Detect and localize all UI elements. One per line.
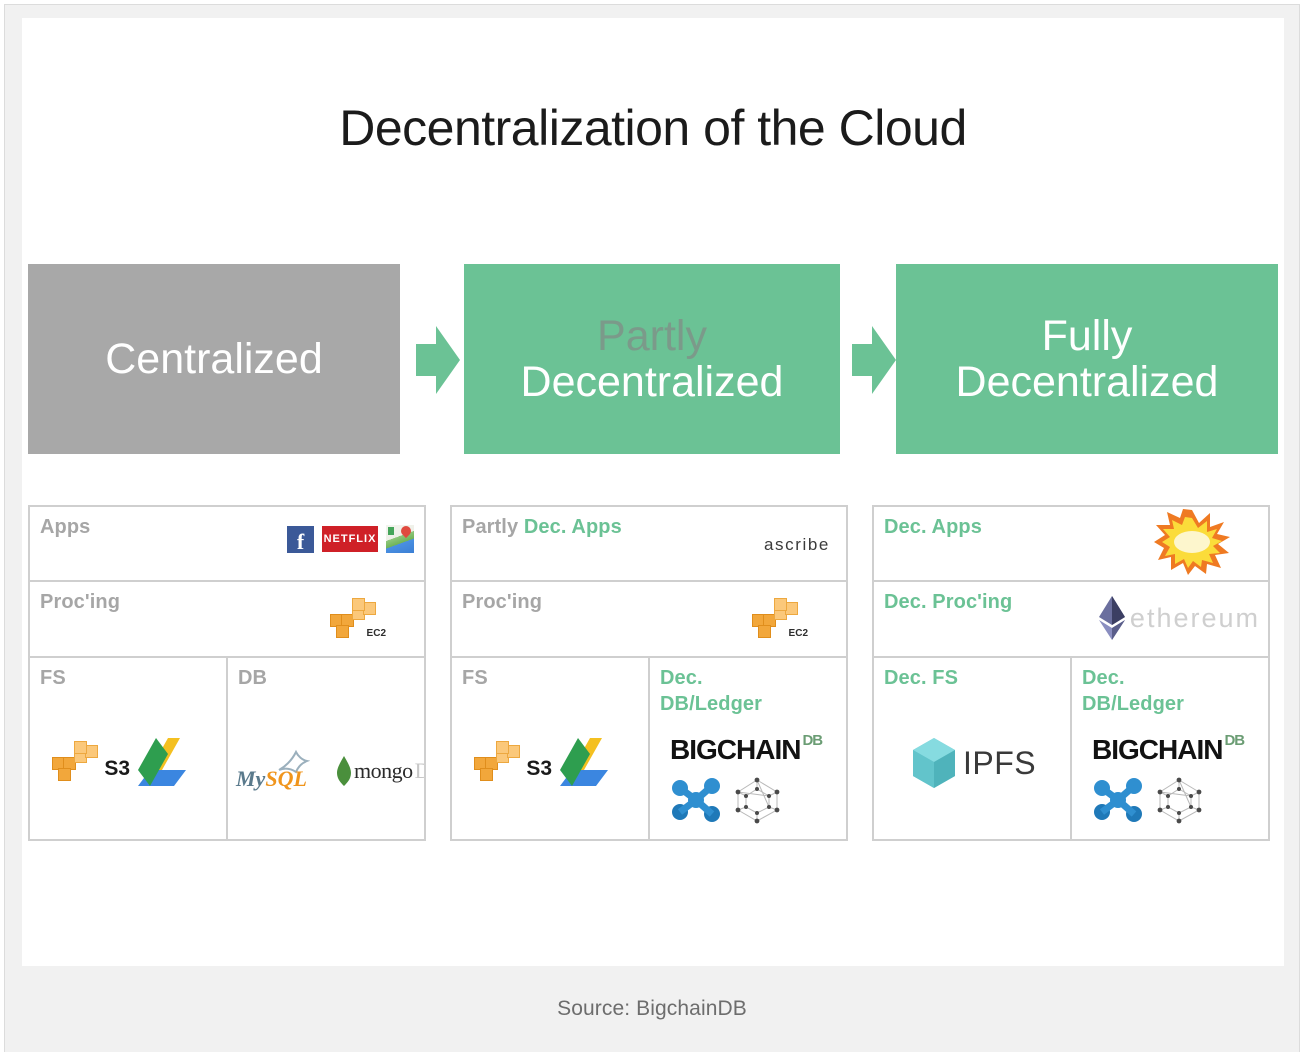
stack-column-fully-decentralized: Dec. Apps [872,505,1270,841]
facebook-icon: f [287,526,314,553]
ripple-icon [670,778,722,822]
google-drive-icon-2 [560,736,620,788]
layer-label-db: DB [238,666,414,692]
layer-row-storage-3: Dec. FS IPFS [874,658,1268,839]
bigchaindb-text-3: BIGCHAIN [1092,734,1222,766]
stage-label-centralized: Centralized [105,335,323,383]
bigchaindb-db-text: DB [802,732,822,749]
arrow-right-icon-2 [850,324,898,396]
page-title: Decentralization of the Cloud [22,99,1284,157]
ipfs-cube-icon [910,736,958,790]
logo-group-apps: f NETFLIX [287,525,414,553]
stage-box-partly-decentralized[interactable]: Partly Decentralized [464,264,840,454]
logo-group-db: MySQL mongoDB [236,750,424,792]
stage-label-fully-prefix: Fully [1042,312,1133,360]
bigchaindb-icon-3: BIGCHAINDB [1092,734,1244,766]
layer-row-processing-3: Dec. Proc'ing ethereum [874,582,1268,658]
source-text: Source: BigchainDB [557,997,747,1021]
mongodb-text: mongo [354,758,413,784]
explosion-icon [1154,509,1230,575]
logo-group-fs-2: S3 [474,736,620,788]
aws-ec2-icon: EC2 [330,600,382,638]
logo-group-dec-fs-3: IPFS [910,736,1036,790]
layer-label-dec-db-3: Dec. DB/Ledger [1082,666,1258,717]
layer-cell-processing: Proc'ing EC2 [30,582,424,656]
aws-s3-icon: S3 [52,743,104,781]
layer-row-apps: Apps f NETFLIX [30,507,424,582]
slide-canvas: Decentralization of the Cloud Centralize… [0,0,1306,1058]
layer-cell-apps-3: Dec. Apps [874,507,1268,580]
layer-cell-dec-db-3: Dec. DB/Ledger BIGCHAINDB [1072,658,1268,839]
layer-label-dec-db-2: Dec. DB/Ledger [660,666,836,717]
ipdb-network-icon-3 [1154,776,1204,824]
ec2-label: EC2 [367,628,386,639]
layer-label-fs-2: FS [462,666,638,692]
layer-row-processing: Proc'ing EC2 [30,582,424,658]
netflix-icon: NETFLIX [322,526,378,552]
s3-label: S3 [104,757,130,781]
layer-cell-dec-db-2: Dec. DB/Ledger BIGCHAINDB [650,658,846,839]
mysql-icon: MySQL [236,750,328,792]
source-footer: Source: BigchainDB [5,966,1299,1052]
google-drive-icon [138,736,198,788]
stage-row: Centralized Partly Decentralized [22,264,1284,460]
logo-group-dec-db-3: BIGCHAINDB [1092,734,1244,824]
ethereum-icon [1099,596,1125,640]
ipdb-network-icon [732,776,782,824]
layer-cell-dec-fs-3: Dec. FS IPFS [874,658,1072,839]
stack-columns: Apps f NETFLIX Proc'ing [22,505,1284,850]
stack-column-partly-decentralized: Partly Dec. Apps ascribe Proc'ing [450,505,848,841]
logo-group-dec-db-2: BIGCHAINDB [670,734,822,824]
logo-group-apps-3 [1154,509,1230,575]
ascribe-icon: ascribe [764,535,830,555]
mongodb-icon: mongoDB [336,756,424,786]
aws-s3-icon-2: S3 [474,743,526,781]
s3-label-2: S3 [526,757,552,781]
google-maps-icon [386,525,414,553]
layer-cell-db: DB MySQL [228,658,424,839]
layer-row-storage-2: FS S3 [452,658,846,839]
layer-label-fs: FS [40,666,216,692]
bigchaindb-db-text-3: DB [1224,732,1244,749]
stage-label-partly-main: Decentralized [521,358,784,406]
ripple-icon-3 [1092,778,1144,822]
ec2-label-2: EC2 [789,628,808,639]
layer-row-apps-3: Dec. Apps [874,507,1268,582]
layer-cell-processing-3: Dec. Proc'ing ethereum [874,582,1268,656]
layer-row-storage: FS S3 [30,658,424,839]
ethereum-text: ethereum [1130,603,1260,634]
arrow-right-icon [414,324,462,396]
logo-group-processing: EC2 [330,600,382,638]
layer-row-processing-2: Proc'ing EC2 [452,582,846,658]
stack-column-centralized: Apps f NETFLIX Proc'ing [28,505,426,841]
logo-group-processing-3: ethereum [1099,596,1260,640]
stage-label-partly-prefix: Partly [521,313,784,359]
logo-group-apps-2: ascribe [764,535,830,555]
bigchaindb-icon: BIGCHAINDB [670,734,822,766]
stage-box-centralized[interactable]: Centralized [28,264,400,454]
ipfs-text: IPFS [963,745,1036,782]
bigchaindb-text: BIGCHAIN [670,734,800,766]
layer-cell-apps: Apps f NETFLIX [30,507,424,580]
layer-label-dec-fs-3: Dec. FS [884,666,1060,692]
mongodb-leaf-icon [336,756,352,786]
mysql-sql-text: SQL [265,766,307,791]
layer-row-apps-2: Partly Dec. Apps ascribe [452,507,846,582]
aws-ec2-icon-2: EC2 [752,600,804,638]
diagram-area: Decentralization of the Cloud Centralize… [22,18,1284,966]
mysql-my-text: My [236,766,265,791]
layer-cell-fs: FS S3 [30,658,228,839]
logo-group-processing-2: EC2 [752,600,804,638]
logo-group-fs: S3 [52,736,198,788]
layer-cell-fs-2: FS S3 [452,658,650,839]
stage-label-fully-main: Decentralized [956,358,1219,406]
stage-box-fully-decentralized[interactable]: Fully Decentralized [896,264,1278,454]
layer-cell-apps-2: Partly Dec. Apps ascribe [452,507,846,580]
mongodb-db-text: DB [415,758,424,784]
layer-cell-processing-2: Proc'ing EC2 [452,582,846,656]
